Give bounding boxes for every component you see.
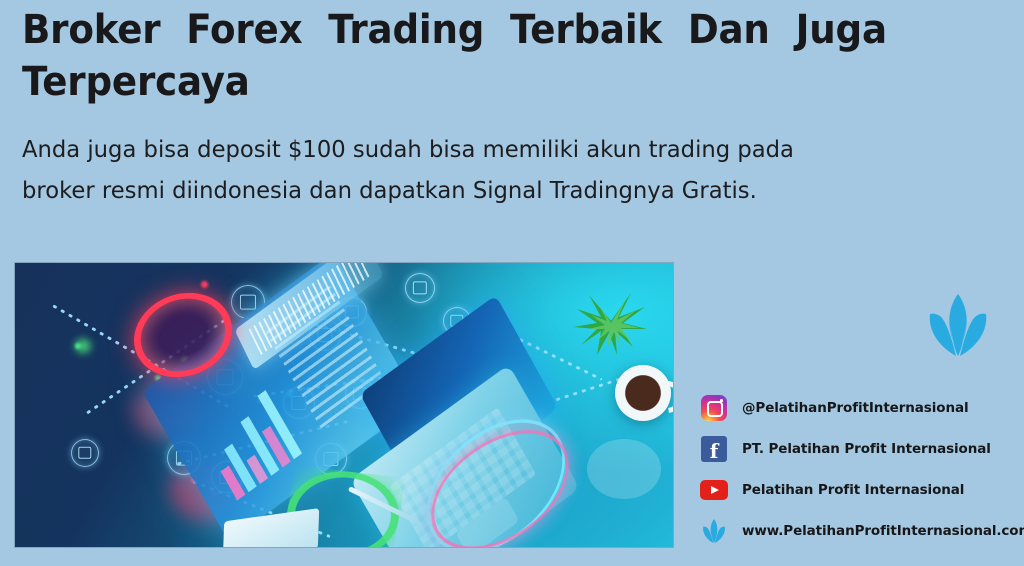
network-node-icon — [405, 273, 435, 303]
network-node-icon — [71, 439, 99, 467]
contact-row-instagram[interactable]: @PelatihanProfitInternasional — [700, 388, 1020, 428]
instagram-handle: @PelatihanProfitInternasional — [742, 400, 969, 416]
article-promo-page: Broker Forex Trading Terbaik Dan Juga Te… — [0, 0, 1024, 566]
signal-dot — [75, 343, 81, 349]
website-lotus-icon[interactable] — [700, 517, 728, 545]
page-title-line-1: Broker Forex Trading Terbaik Dan Juga — [22, 4, 887, 56]
lotus-logo — [922, 292, 994, 358]
contact-row-website[interactable]: www.PelatihanProfitInternasional.com — [700, 511, 1020, 551]
plant-graphic — [571, 287, 649, 355]
facebook-page-name: PT. Pelatihan Profit Internasional — [742, 441, 991, 457]
hero-image-content — [15, 263, 673, 547]
youtube-icon[interactable] — [700, 476, 728, 504]
contact-row-facebook[interactable]: f PT. Pelatihan Profit Internasional — [700, 429, 1020, 469]
coffee-cup-graphic — [615, 365, 671, 421]
website-url: www.PelatihanProfitInternasional.com — [742, 523, 1024, 539]
mousepad-graphic — [587, 439, 661, 499]
hero-image — [15, 263, 673, 547]
page-title-line-2: Terpercaya — [22, 56, 887, 108]
facebook-icon[interactable]: f — [700, 435, 728, 463]
signal-dot — [201, 281, 208, 288]
page-title: Broker Forex Trading Terbaik Dan Juga Te… — [22, 4, 887, 108]
youtube-channel-name: Pelatihan Profit Internasional — [742, 482, 964, 498]
contact-row-youtube[interactable]: Pelatihan Profit Internasional — [700, 470, 1020, 510]
intro-paragraph: Anda juga bisa deposit $100 sudah bisa m… — [22, 129, 794, 211]
instagram-icon[interactable] — [700, 394, 728, 422]
contact-list: @PelatihanProfitInternasional f PT. Pela… — [700, 388, 1020, 552]
